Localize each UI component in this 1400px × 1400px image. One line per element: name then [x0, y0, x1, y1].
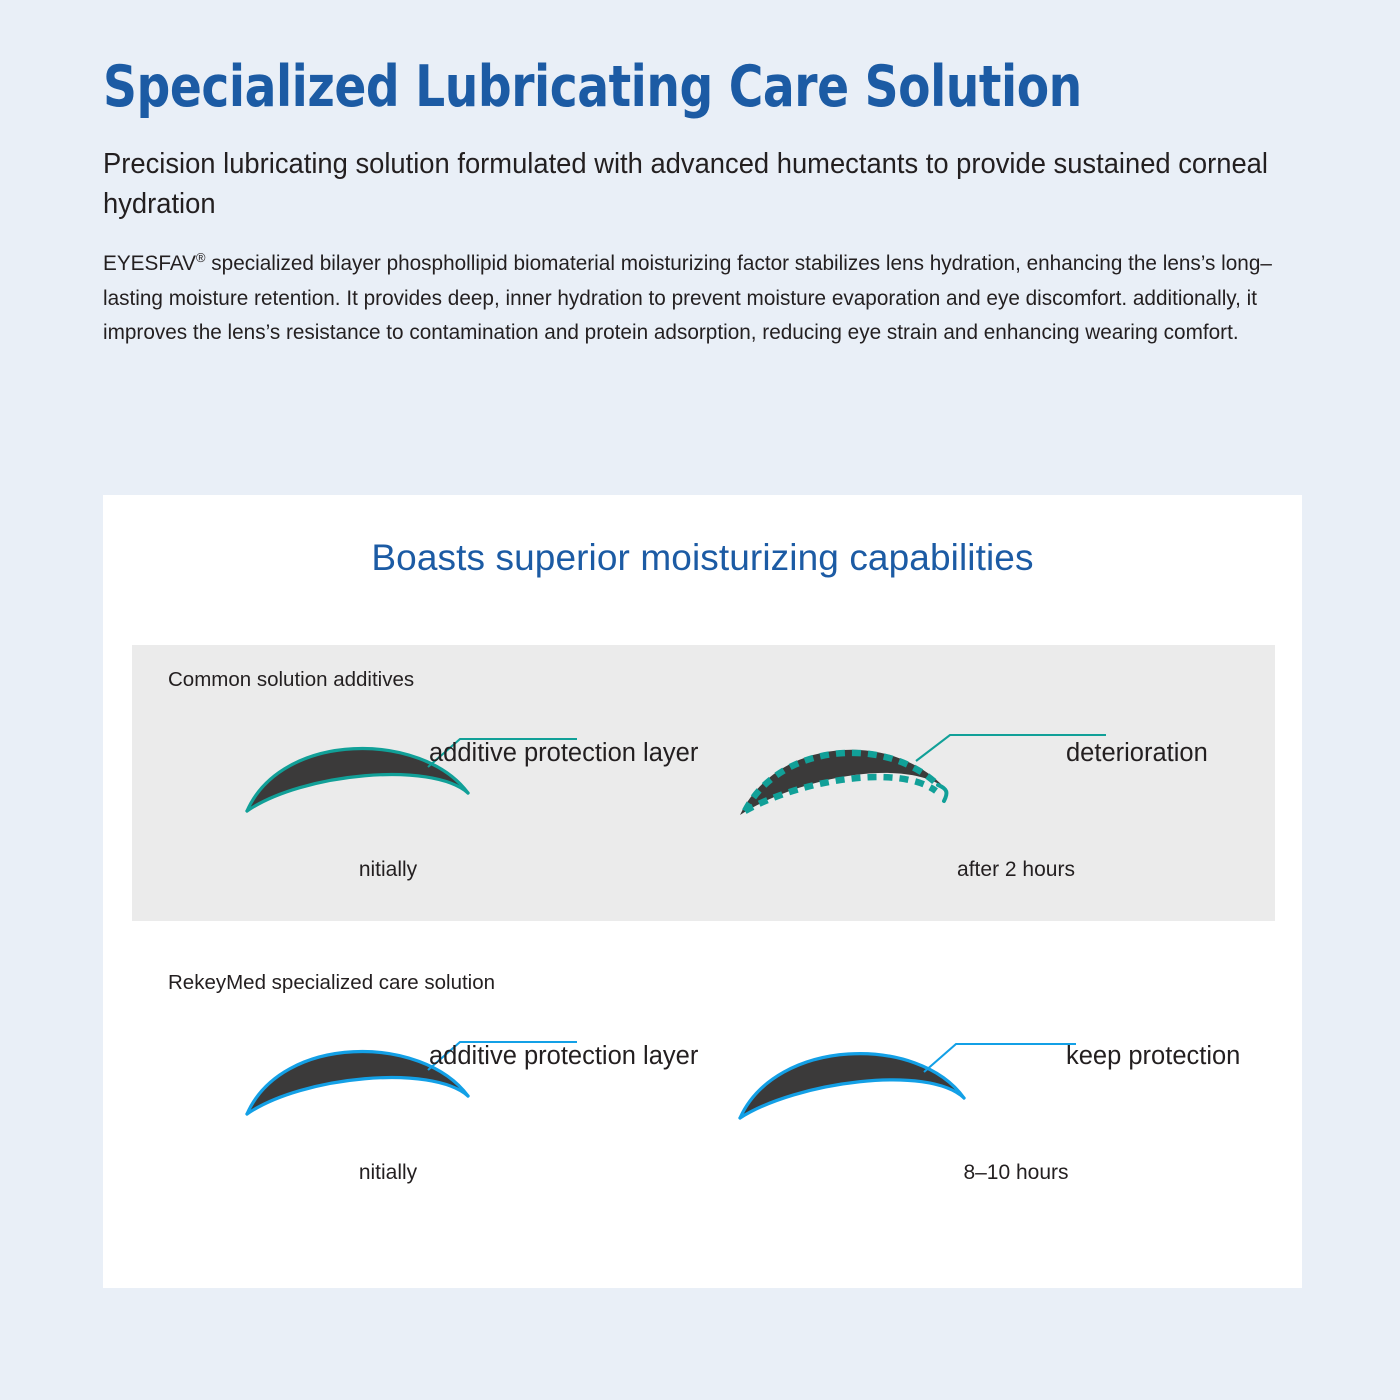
- lens-cell-rekeymed-initial: additive protection layer nitially: [132, 948, 703, 1224]
- page-subtitle: Precision lubricating solution formulate…: [103, 144, 1289, 225]
- caption-initially: nitially: [298, 1161, 478, 1185]
- lens-cell-rekeymed-8-10-hours: keep protection 8–10 hours: [704, 948, 1275, 1224]
- callout-keep-protection: keep protection: [1066, 1042, 1240, 1071]
- contact-lens-crescent-icon: [704, 1004, 1275, 1164]
- page-title: Specialized Lubricating Care Solution: [103, 58, 1239, 118]
- callout-additive-protection-layer: additive protection layer: [429, 1042, 698, 1071]
- feature-card: Boasts superior moisturizing capabilitie…: [103, 495, 1302, 1288]
- header-block: Specialized Lubricating Care Solution Pr…: [103, 58, 1338, 350]
- brand-name: EYESFAV: [103, 251, 196, 275]
- comparison-row-rekeymed-solution: RekeyMed specialized care solution addit…: [132, 948, 1275, 1224]
- contact-lens-crescent-icon: [132, 1004, 703, 1164]
- callout-deterioration: deterioration: [1066, 739, 1208, 768]
- comparison-row-common-additives: Common solution additives additive prote…: [132, 645, 1275, 921]
- callout-additive-protection-layer: additive protection layer: [429, 739, 698, 768]
- caption-8-10-hours: 8–10 hours: [916, 1161, 1116, 1185]
- contact-lens-crescent-degraded-icon: [704, 701, 1275, 861]
- caption-initially: nitially: [298, 858, 478, 882]
- caption-after-2-hours: after 2 hours: [916, 858, 1116, 882]
- registered-trademark-icon: ®: [196, 250, 205, 265]
- page-description: EYESFAV® specialized bilayer phosphollip…: [103, 246, 1295, 350]
- lens-cell-common-after-2-hours: deterioration after 2 hours: [704, 645, 1275, 921]
- page-description-text: specialized bilayer phosphollipid biomat…: [103, 251, 1272, 345]
- card-heading: Boasts superior moisturizing capabilitie…: [103, 537, 1302, 579]
- lens-cell-common-initial: additive protection layer nitially: [132, 645, 703, 921]
- contact-lens-crescent-icon: [132, 701, 703, 861]
